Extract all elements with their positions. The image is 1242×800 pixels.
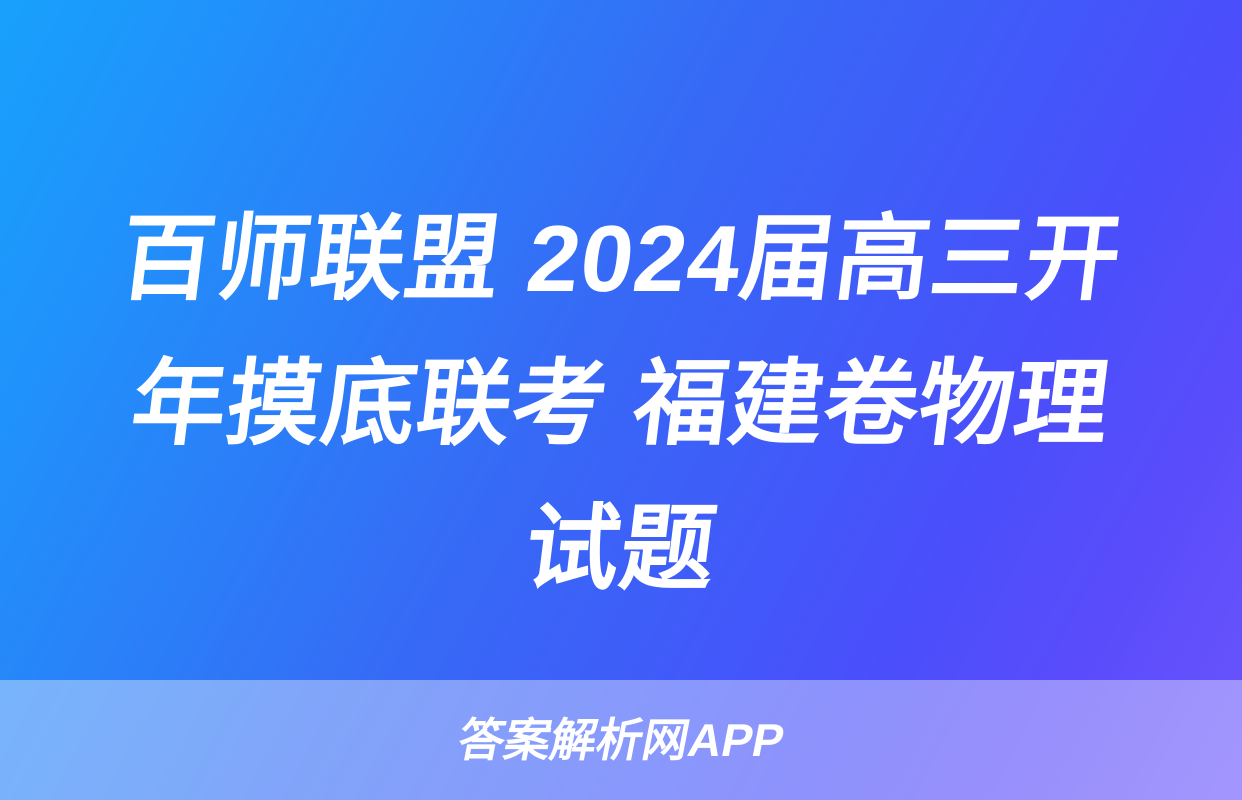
title-line-1: 百师联盟 2024届高三开 bbox=[51, 186, 1191, 331]
app-watermark-label: 答案解析网APP bbox=[454, 717, 788, 763]
page-title: 百师联盟 2024届高三开 年摸底联考 福建卷物理 试题 bbox=[0, 186, 1242, 621]
footer-band: 答案解析网APP bbox=[0, 680, 1242, 800]
title-line-3: 试题 bbox=[51, 476, 1191, 621]
exam-cover-card: 百师联盟 2024届高三开 年摸底联考 福建卷物理 试题 答案解析网APP bbox=[0, 0, 1242, 800]
title-line-2: 年摸底联考 福建卷物理 bbox=[51, 331, 1191, 476]
